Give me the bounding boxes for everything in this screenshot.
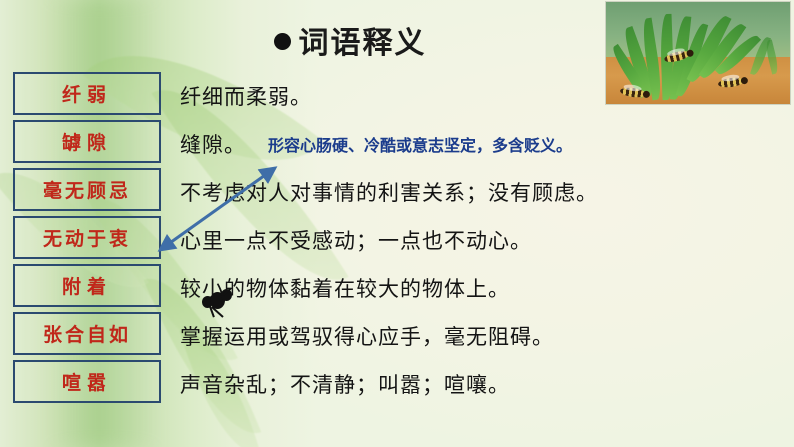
definition-row: 心里一点不受感动；一点也不动心。	[180, 216, 780, 264]
term-box-list: 纤弱 罅隙 毫无顾忌 无动于衷 附着 张合自如 喧嚣	[13, 72, 161, 408]
definition-text: 缝隙。	[180, 129, 246, 159]
definition-row: 缝隙。 形容心肠硬、冷酷或意志坚定，多含贬义。	[180, 120, 780, 168]
definition-row: 较小的物体黏着在较大的物体上。	[180, 264, 780, 312]
term-label: 纤弱	[62, 80, 112, 107]
slide-title: 词语释义	[0, 18, 700, 62]
definition-text: 掌握运用或驾驭得心应手，毫无阻碍。	[180, 321, 554, 351]
definition-row: 声音杂乱；不清静；叫嚣；喧嚷。	[180, 360, 780, 408]
term-box[interactable]: 纤弱	[13, 72, 161, 115]
slide-canvas: 词语释义 纤弱	[0, 0, 794, 447]
definition-text: 纤细而柔弱。	[180, 81, 312, 111]
term-label: 张合自如	[43, 320, 131, 347]
term-box[interactable]: 喧嚣	[13, 360, 161, 403]
term-label: 罅隙	[62, 128, 112, 155]
term-box[interactable]: 无动于衷	[13, 216, 161, 259]
term-box[interactable]: 罅隙	[13, 120, 161, 163]
definition-list: 纤细而柔弱。 缝隙。 形容心肠硬、冷酷或意志坚定，多含贬义。 不考虑对人对事情的…	[180, 72, 780, 408]
definition-row: 掌握运用或驾驭得心应手，毫无阻碍。	[180, 312, 780, 360]
definition-text: 声音杂乱；不清静；叫嚣；喧嚷。	[180, 369, 510, 399]
ant-silhouette-icon	[200, 286, 234, 316]
term-box[interactable]: 张合自如	[13, 312, 161, 355]
bullet-icon	[274, 33, 291, 50]
term-box[interactable]: 毫无顾忌	[13, 168, 161, 211]
definition-text: 心里一点不受感动；一点也不动心。	[180, 225, 532, 255]
term-label: 附着	[62, 272, 112, 299]
term-label: 毫无顾忌	[43, 176, 131, 203]
page-title: 词语释义	[299, 18, 427, 62]
term-label: 喧嚣	[62, 368, 112, 395]
definition-row: 不考虑对人对事情的利害关系；没有顾虑。	[180, 168, 780, 216]
definition-text: 不考虑对人对事情的利害关系；没有顾虑。	[180, 177, 598, 207]
definition-row: 纤细而柔弱。	[180, 72, 780, 120]
term-box[interactable]: 附着	[13, 264, 161, 307]
term-label: 无动于衷	[43, 224, 131, 251]
definition-note: 形容心肠硬、冷酷或意志坚定，多含贬义。	[268, 132, 572, 156]
